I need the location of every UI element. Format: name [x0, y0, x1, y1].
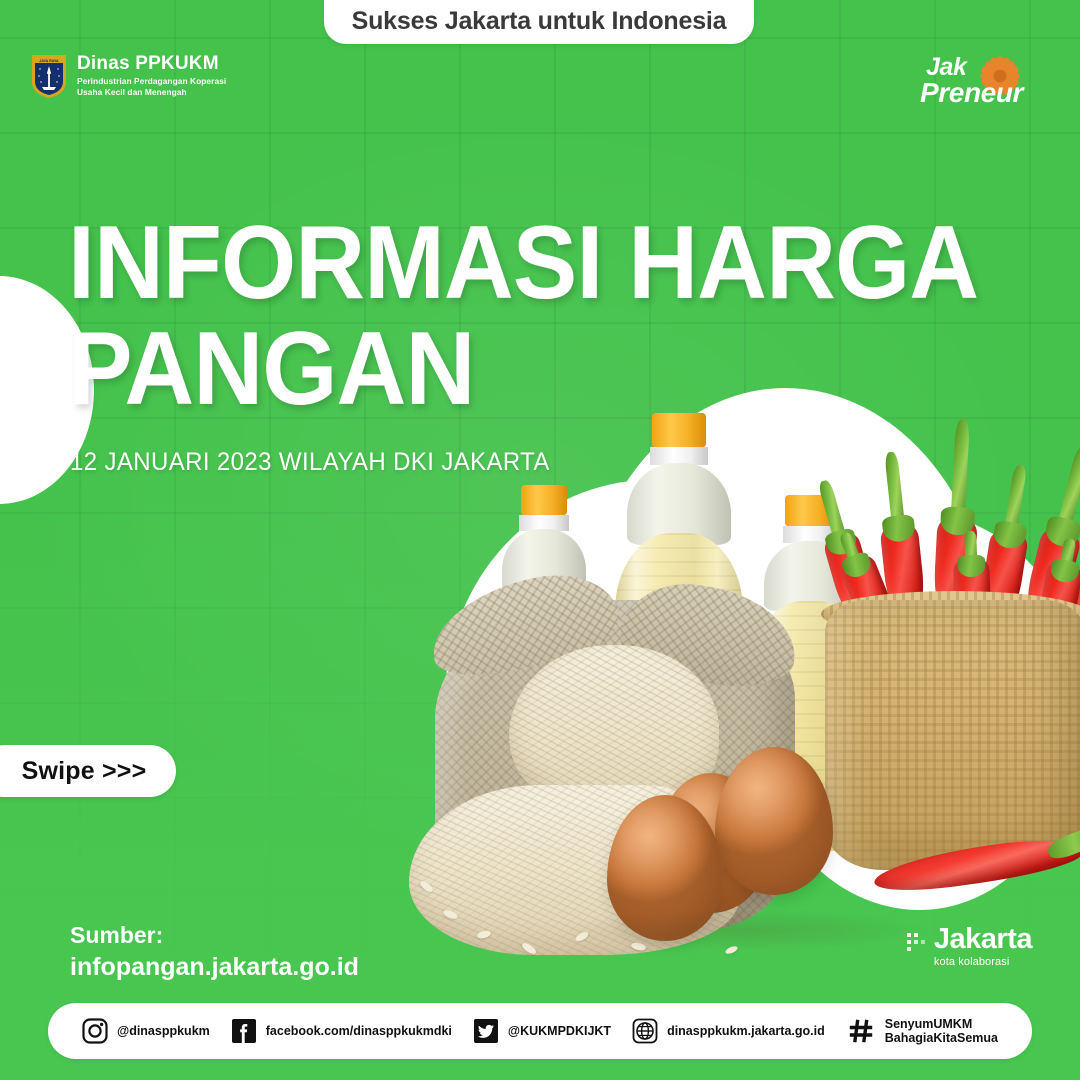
- instagram-icon: [82, 1018, 108, 1044]
- jakpreneur-line1: Jak: [920, 56, 1050, 80]
- page-subtitle: 12 JANUARI 2023 WILAYAH DKI JAKARTA: [70, 448, 550, 477]
- globe-icon: [632, 1018, 658, 1044]
- brand-subtitle-line1: Perindustrian Perdagangan Koperasi: [77, 76, 226, 87]
- footer-item-hashtag[interactable]: SenyumUMKM BahagiaKitaSemua: [846, 1017, 998, 1046]
- brand-subtitle-line2: Usaha Kecil dan Menengah: [77, 87, 226, 98]
- footer-label-facebook: facebook.com/dinasppkukmdki: [266, 1024, 452, 1038]
- footer-label-hashtag: SenyumUMKM BahagiaKitaSemua: [885, 1017, 998, 1046]
- facebook-icon: [231, 1018, 257, 1044]
- swipe-label: Swipe >>>: [22, 757, 147, 786]
- page-title-line1: INFORMASI HARGA: [68, 214, 978, 314]
- footer-item-twitter[interactable]: @KUKMPDKIJKT: [473, 1018, 611, 1044]
- poster-canvas: INFORMASI HARGA PANGAN 12 JANUARI 2023 W…: [0, 0, 1080, 1080]
- footer-item-website[interactable]: dinasppkukm.jakarta.go.id: [632, 1018, 825, 1044]
- swipe-button[interactable]: Swipe >>>: [0, 745, 176, 797]
- page-title-line2: PANGAN: [68, 320, 978, 420]
- brand-logo: JAYA RAYA Dinas PPKUKM Perindustrian Per…: [30, 52, 226, 100]
- social-footer-bar: @dinasppkukm facebook.com/dinasppkukmdki…: [48, 1003, 1032, 1059]
- hashtag-icon: [846, 1018, 876, 1044]
- jakpreneur-logo: Jak Preneur: [920, 50, 1050, 120]
- footer-item-facebook[interactable]: facebook.com/dinasppkukmdki: [231, 1018, 452, 1044]
- source-block: Sumber: infopangan.jakarta.go.id: [70, 920, 359, 985]
- source-url: infopangan.jakarta.go.id: [70, 951, 359, 985]
- jakpreneur-line2: Preneur: [920, 80, 1050, 106]
- dki-jakarta-shield-icon: JAYA RAYA: [30, 52, 68, 100]
- jakarta-logo-tagline: kota kolaborasi: [934, 956, 1032, 968]
- footer-label-hashtag-line1: SenyumUMKM: [885, 1017, 973, 1031]
- jakarta-city-logo: Jakarta kota kolaborasi: [906, 925, 1032, 968]
- top-banner: Sukses Jakarta untuk Indonesia: [324, 0, 754, 44]
- twitter-icon: [473, 1018, 499, 1044]
- jakarta-logo-name: Jakarta: [934, 925, 1032, 954]
- footer-label-twitter: @KUKMPDKIJKT: [508, 1024, 611, 1038]
- jakarta-dots-icon: [906, 932, 930, 956]
- footer-label-instagram: @dinasppkukm: [117, 1024, 210, 1038]
- brand-name: Dinas PPKUKM: [77, 54, 226, 74]
- footer-item-instagram[interactable]: @dinasppkukm: [82, 1018, 210, 1044]
- svg-text:JAYA RAYA: JAYA RAYA: [39, 59, 59, 63]
- top-banner-label: Sukses Jakarta untuk Indonesia: [352, 7, 727, 36]
- footer-label-website: dinasppkukm.jakarta.go.id: [667, 1024, 825, 1038]
- page-title: INFORMASI HARGA PANGAN: [68, 214, 1047, 420]
- footer-label-hashtag-line2: BahagiaKitaSemua: [885, 1031, 998, 1045]
- source-label: Sumber:: [70, 920, 359, 951]
